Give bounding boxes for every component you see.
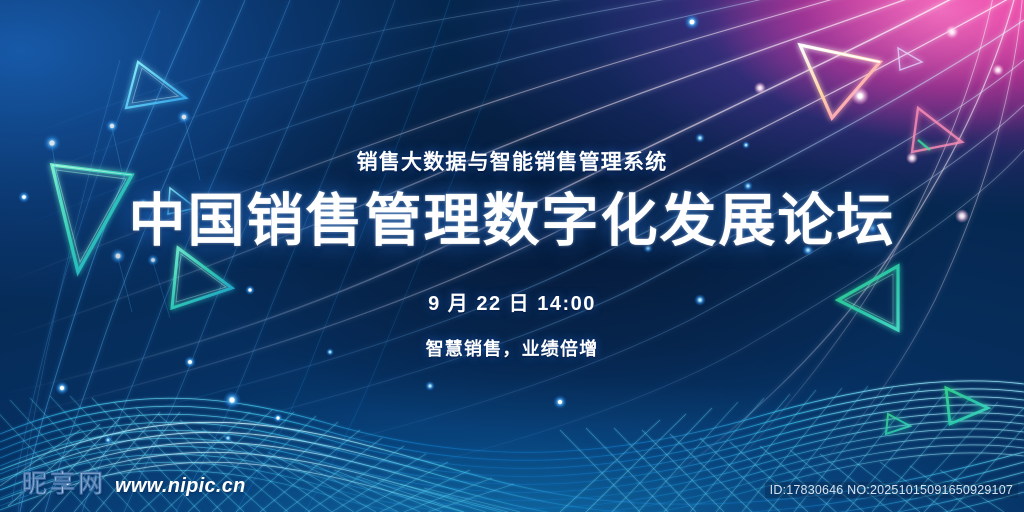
triangle-outline-glow-hot	[800, 45, 880, 118]
triangle-outline-green-right-b	[946, 388, 988, 424]
watermark-url-text: www.nipic.cn	[115, 475, 246, 498]
poster-text-block: 销售大数据与智能销售管理系统 中国销售管理数字化发展论坛 9 月 22 日 14…	[0, 152, 1024, 361]
watermark-logo-text: 昵享网	[22, 464, 106, 500]
triangle-outline-pink-right	[912, 108, 962, 152]
poster-tagline: 智慧销售，业绩倍增	[0, 335, 1024, 361]
poster-canvas: 销售大数据与智能销售管理系统 中国销售管理数字化发展论坛 9 月 22 日 14…	[0, 0, 1024, 512]
poster-event-date: 9 月 22 日 14:00	[0, 287, 1024, 316]
site-watermark: 昵享网 www.nipic.cn	[22, 464, 246, 500]
poster-main-title: 中国销售管理数字化发展论坛	[0, 191, 1024, 253]
triangle-outline-green-right-c	[886, 414, 910, 434]
image-id-label: ID:17830646 NO:20251015091650929107	[765, 482, 1018, 498]
triangle-outline-small-violet	[898, 48, 922, 70]
poster-subtitle: 销售大数据与智能销售管理系统	[0, 152, 1024, 173]
triangle-outline-cyan-small	[126, 62, 186, 108]
